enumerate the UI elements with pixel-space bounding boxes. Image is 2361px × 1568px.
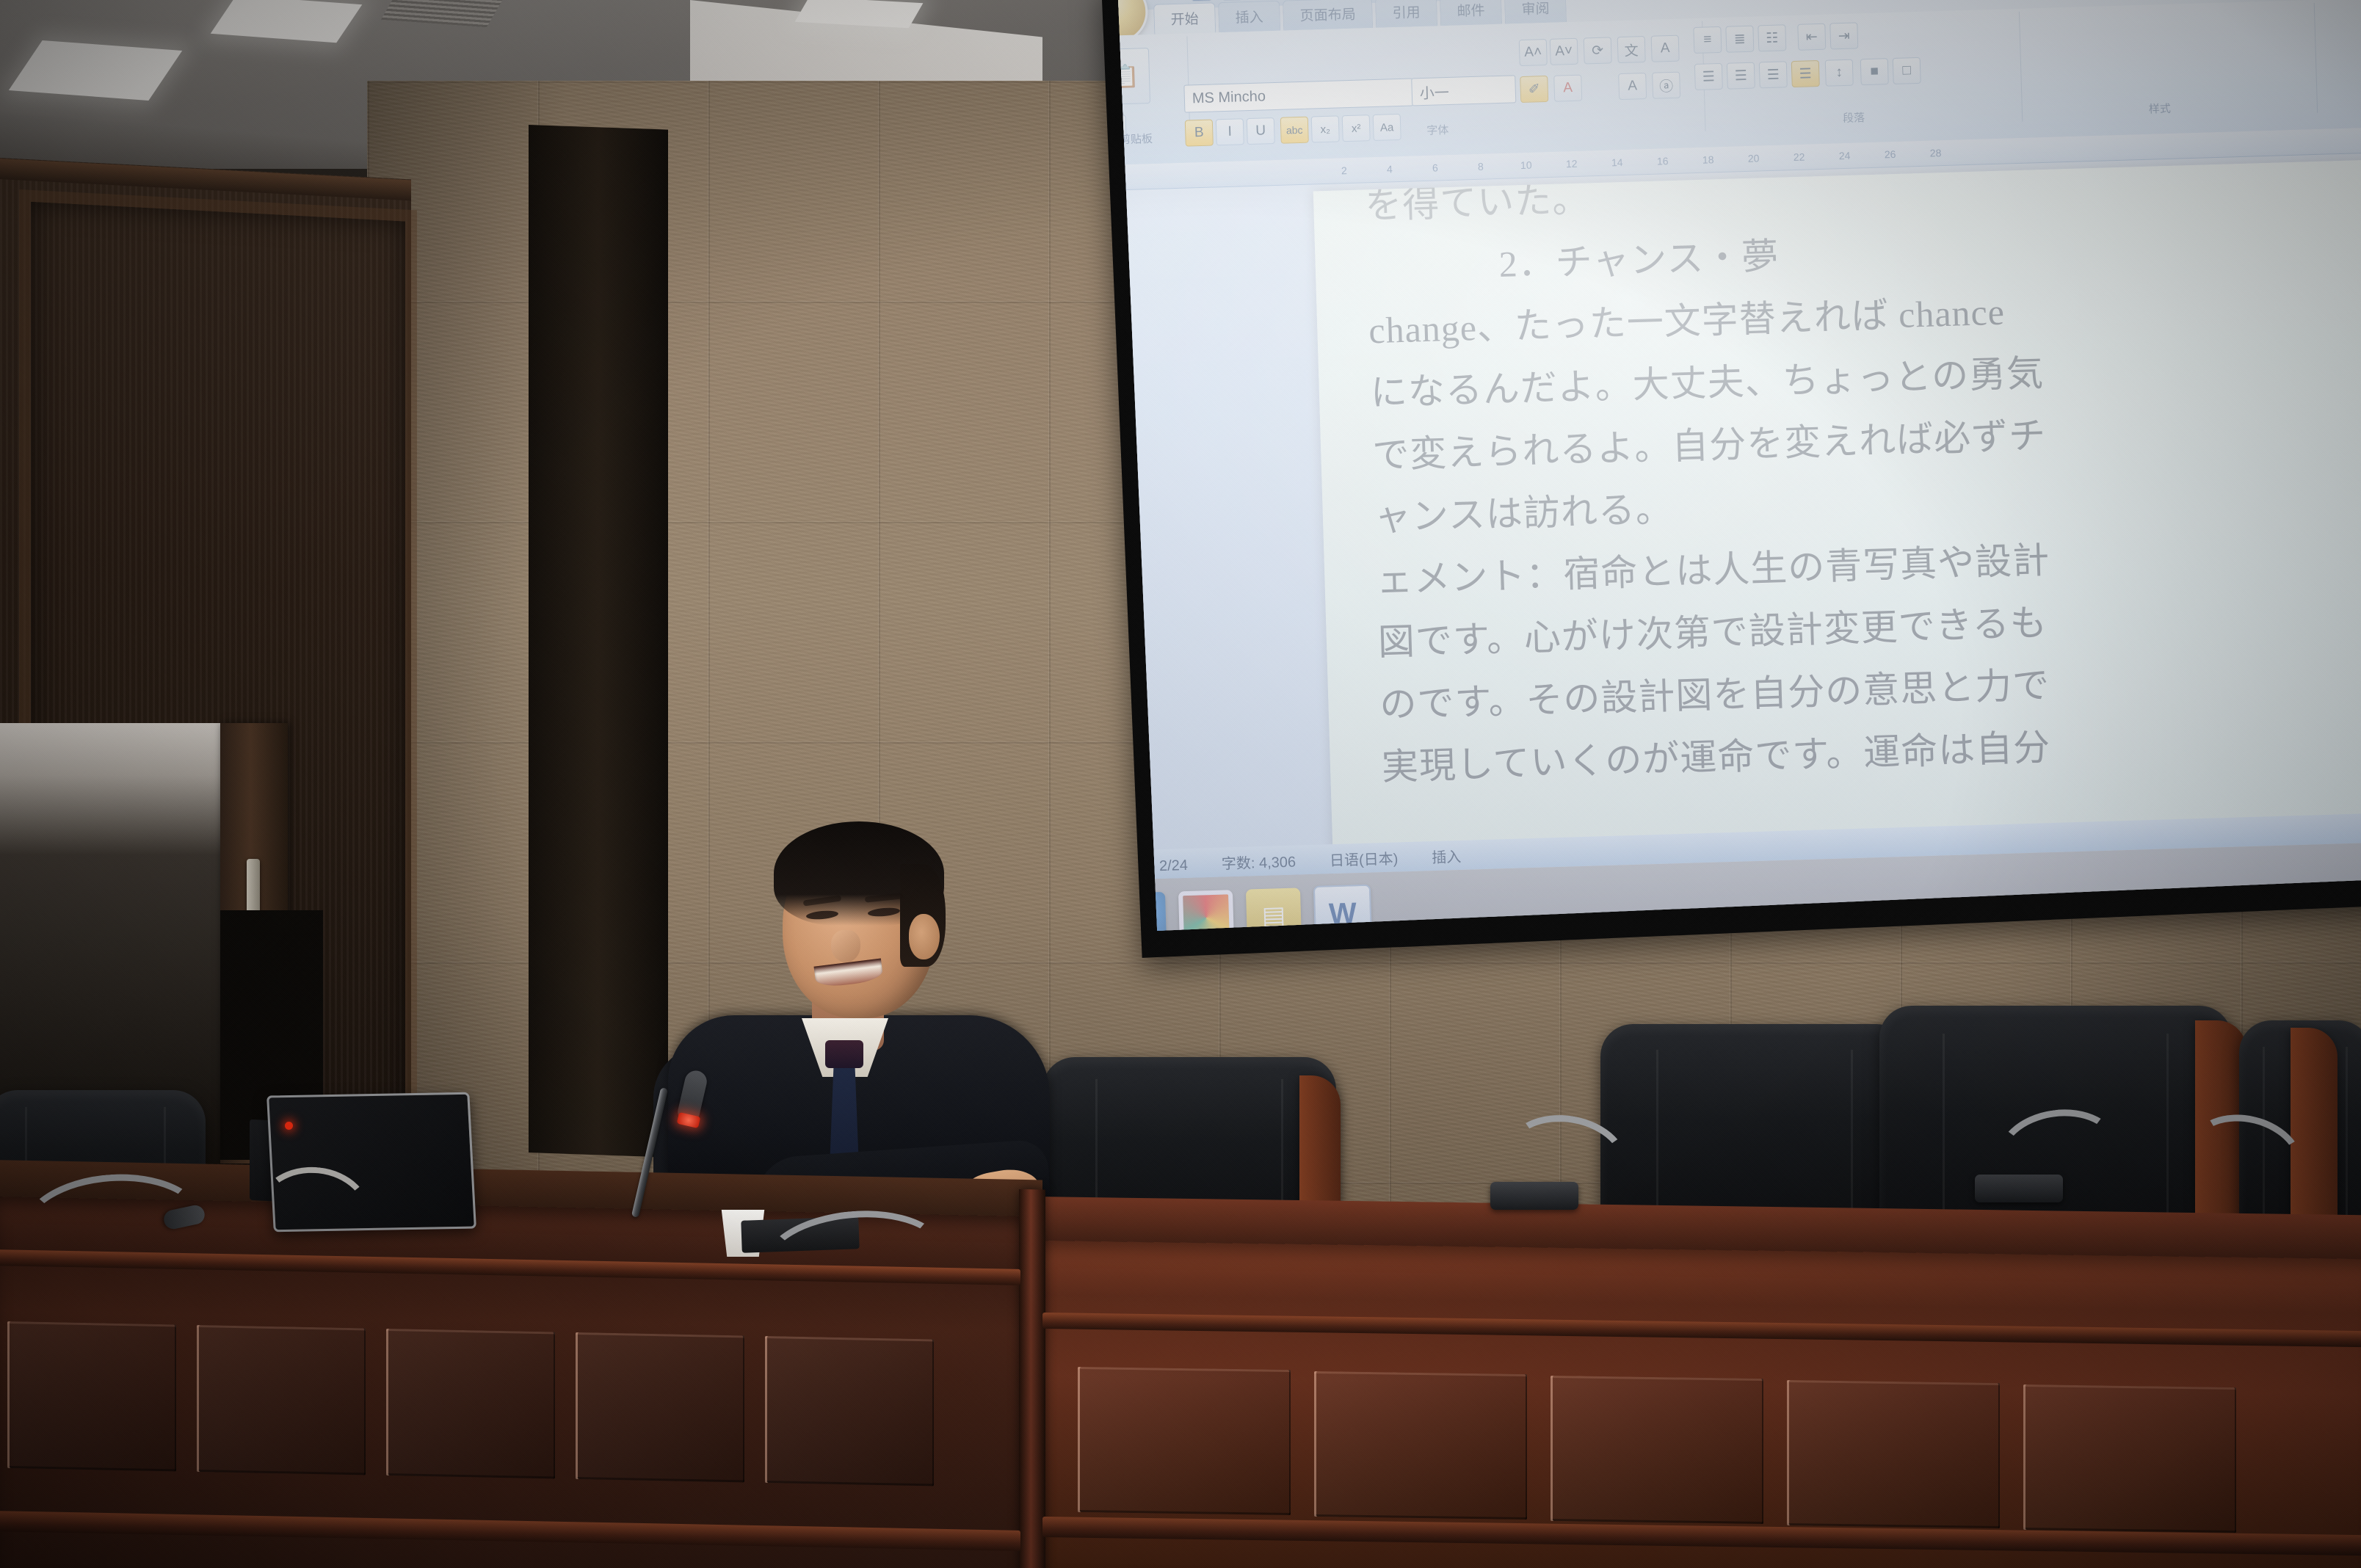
desk-panel [1551,1376,1763,1524]
decrease-indent-icon[interactable]: ⇤ [1797,23,1826,51]
speaker-tie-knot [825,1040,863,1068]
grow-font-icon[interactable]: A˄ [1519,39,1548,66]
tab-insert[interactable]: 插入 [1218,1,1280,32]
tab-references[interactable]: 引用 [1375,0,1437,28]
font-name-input[interactable]: MS Mincho [1183,78,1413,112]
enclose-character-glyph: ⓐ [1659,75,1674,95]
align-right-icon[interactable]: ☰ [1759,61,1788,88]
multilevel-list-glyph: ☷ [1766,29,1779,46]
desk-panel [197,1325,366,1475]
laptop-power-led-icon [285,1122,293,1130]
tab-page-layout[interactable]: 页面布局 [1283,0,1373,31]
decrease-indent-glyph: ⇤ [1805,29,1818,46]
ruler-tick: 12 [1549,157,1595,170]
ruler-tick: 18 [1685,153,1730,167]
desk-panel [765,1336,934,1486]
character-border-icon[interactable]: A [1651,35,1680,62]
font-color-glyph: A [1563,80,1573,96]
save-icon[interactable]: 💾 [1191,0,1212,1]
borders-icon[interactable]: □ [1893,57,1921,84]
projected-desktop: 💾 ↶ ↷ ▾ 文档1 - Microsoft Word [1118,0,2361,931]
text-effects-icon[interactable]: A [1618,73,1647,100]
ruler-tick: 16 [1639,154,1685,167]
ruler-tick: 20 [1730,152,1776,165]
ruler-tick: 6 [1412,161,1458,175]
desk-panel [7,1321,176,1471]
ribbon-group-paragraph: ≡ ≣ ☷ ⇤ ⇥ ☰ ☰ [1683,12,2023,132]
status-language[interactable]: 日语(日本) [1330,846,1399,870]
door-handle-icon[interactable] [247,859,260,916]
tab-review[interactable]: 审阅 [1504,0,1567,24]
line-spacing-icon[interactable]: ↕ [1825,59,1854,87]
status-word-count[interactable]: 字数: 4,306 [1221,849,1296,873]
ruler-tick: 24 [1821,149,1867,162]
clear-formatting-glyph: ⟳ [1592,42,1604,59]
desk-panel [2023,1384,2236,1533]
desk-panel [1787,1380,2000,1528]
ruler-tick: 22 [1776,150,1821,164]
ruler-tick: 26 [1867,148,1912,161]
enclose-character-icon[interactable]: ⓐ [1652,72,1680,99]
increase-indent-icon[interactable]: ⇥ [1829,22,1858,49]
shrink-font-icon[interactable]: A˅ [1550,38,1578,65]
speaker-ear [909,914,940,959]
font-color-icon[interactable]: A [1553,75,1582,102]
desk-panel [1314,1371,1527,1520]
align-left-icon[interactable]: ☰ [1694,63,1723,90]
increase-indent-glyph: ⇥ [1838,27,1850,44]
file-explorer-icon[interactable]: ▤ [1246,888,1302,931]
desk-panel [386,1329,555,1478]
ruler-tick: 4 [1367,162,1412,175]
font-size-input[interactable]: 小一 [1411,75,1516,106]
text-highlight-glyph: ✐ [1528,81,1540,98]
phonetic-guide-glyph: 文 [1624,40,1639,60]
ribbon-group-styles: 样式 [2000,3,2318,123]
justify-icon[interactable]: ☰ [1791,60,1820,87]
speaker-person [639,826,1079,1208]
align-left-glyph: ☰ [1702,68,1715,85]
grow-font-glyph: A˄ [1524,44,1542,61]
paste-icon[interactable]: 📋 [1118,48,1151,105]
document-page[interactable]: を得ていた。 2．チャンス・夢 change、たった一文字替えれば chance… [1313,159,2361,875]
ruler-tick: 28 [1912,146,1958,159]
text-highlight-icon[interactable]: ✐ [1520,76,1548,103]
shading-icon[interactable]: ■ [1860,58,1889,85]
desk-center-divider [1019,1189,1045,1568]
shrink-font-glyph: A˅ [1555,43,1573,60]
projection-screen: 💾 ↶ ↷ ▾ 文档1 - Microsoft Word [1101,0,2361,958]
line-spacing-glyph: ↕ [1835,65,1843,81]
align-center-icon[interactable]: ☰ [1727,62,1755,90]
ribbon-group-font: MS Mincho 小一 A˄ A˅ ⟳ 文 A [1167,21,1705,148]
group-label-paragraph: 段落 [1686,105,2022,131]
bullets-icon[interactable]: ≡ [1693,26,1722,54]
phonetic-guide-icon[interactable]: 文 [1617,36,1646,63]
tab-mailings[interactable]: 邮件 [1440,0,1502,26]
clear-formatting-icon[interactable]: ⟳ [1584,37,1612,64]
numbering-glyph: ≣ [1734,30,1747,47]
justify-glyph: ☰ [1799,65,1812,82]
ruler-tick: 8 [1458,160,1504,173]
speaker-nose [831,930,860,962]
status-insert-mode[interactable]: 插入 [1432,844,1462,866]
conference-lecture-photo: 💾 ↶ ↷ ▾ 文档1 - Microsoft Word [0,0,2361,1568]
align-right-glyph: ☰ [1766,66,1780,83]
browser-icon[interactable] [1178,890,1234,931]
ruler-tick: 10 [1504,159,1549,172]
borders-glyph: □ [1902,62,1911,79]
undo-icon[interactable]: ↶ [1222,0,1243,1]
chair-right-3-wood-frame [2291,1028,2338,1241]
word-window: 💾 ↶ ↷ ▾ 文档1 - Microsoft Word [1118,0,2361,881]
numbering-icon[interactable]: ≣ [1725,26,1754,53]
bullets-glyph: ≡ [1703,32,1712,48]
ruler-tick: 14 [1595,156,1640,169]
screen-surface: 💾 ↶ ↷ ▾ 文档1 - Microsoft Word [1118,0,2361,931]
text-effects-glyph: A [1628,78,1637,94]
desk-panel [576,1332,744,1482]
tab-home[interactable]: 开始 [1153,2,1216,34]
ruler-tick: 2 [1321,164,1367,177]
shading-glyph: ■ [1870,64,1879,80]
desk-panel [1078,1367,1291,1515]
character-border-glyph: A [1661,40,1670,57]
multilevel-list-icon[interactable]: ☷ [1758,24,1786,51]
group-label-styles: 样式 [2003,96,2317,121]
align-center-glyph: ☰ [1734,67,1747,84]
